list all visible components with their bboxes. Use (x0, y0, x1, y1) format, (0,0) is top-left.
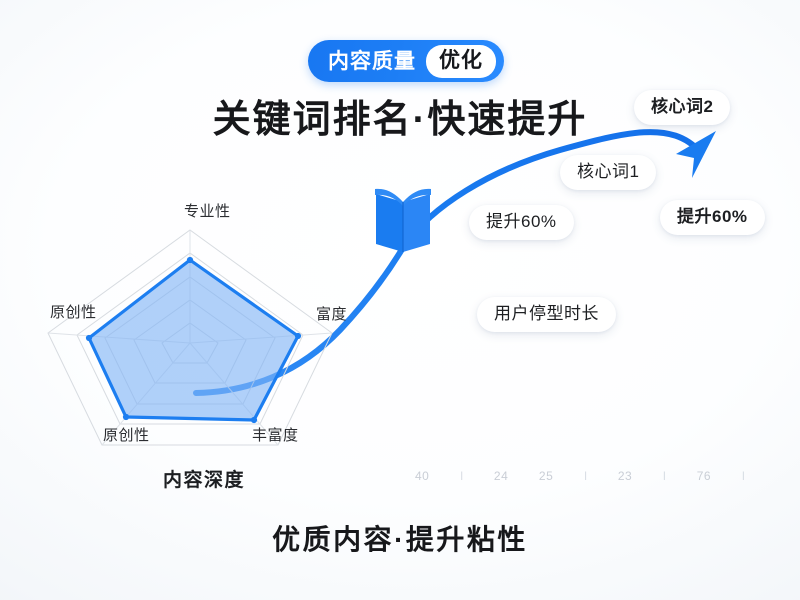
pill-uplift-right[interactable]: 提升60% (660, 200, 765, 235)
radar-axis-label-bottom-right: 丰富度 (252, 424, 299, 445)
radar-axis-label-right: 富度 (316, 303, 347, 324)
radar-series-polygon (89, 260, 298, 420)
pill-dwell-time[interactable]: 用户停型时长 (477, 297, 616, 332)
axis-tick-value: 23 (618, 469, 632, 483)
open-book-icon (372, 186, 434, 256)
pill-core-keyword-2[interactable]: 核心词2 (634, 90, 730, 125)
axis-tick-value: 76 (697, 469, 711, 483)
pill-uplift-left[interactable]: 提升60% (469, 205, 574, 240)
radar-axis-label-top: 专业性 (184, 200, 231, 221)
radar-caption: 内容深度 (163, 465, 245, 492)
poster-canvas: 内容质量 优化 关键词排名·快速提升 (0, 0, 800, 600)
content-depth-radar-chart (30, 220, 350, 450)
axis-tick-mark: I (584, 469, 587, 483)
axis-tick-strip: 40 I 24 25 I 23 I 76 I (415, 466, 745, 486)
axis-tick-value: 24 (494, 469, 508, 483)
badge-main-label: 内容质量 (328, 51, 426, 72)
pill-core-keyword-1[interactable]: 核心词1 (560, 155, 656, 190)
axis-tick-mark: I (460, 469, 463, 483)
page-subtitle: 优质内容·提升粘性 (0, 518, 800, 558)
badge-sub-label: 优化 (426, 45, 496, 78)
axis-tick-value: 40 (415, 469, 429, 483)
content-quality-badge[interactable]: 内容质量 优化 (308, 40, 504, 82)
radar-axis-label-bottom-left: 原创性 (103, 424, 150, 445)
axis-tick-mark: I (663, 469, 666, 483)
radar-axis-label-left: 原创性 (50, 301, 97, 322)
axis-tick-value: 25 (539, 469, 553, 483)
axis-tick-mark: I (742, 469, 745, 483)
